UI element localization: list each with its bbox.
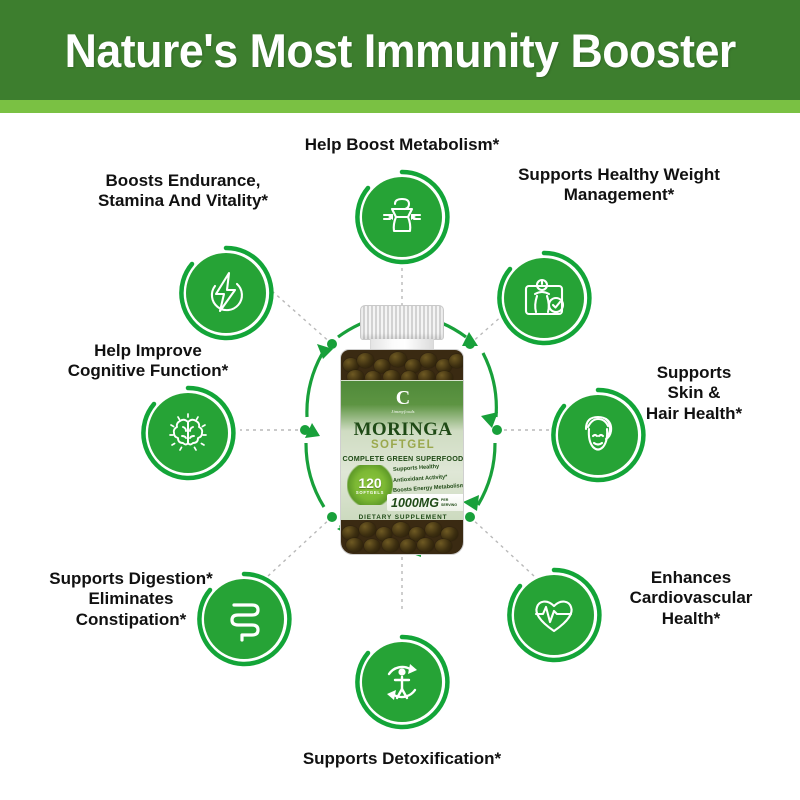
benefit-icon-weight[interactable] [496, 250, 592, 346]
page-title: Nature's Most Immunity Booster [64, 23, 735, 78]
softgel-count-unit: SOFTGELS [356, 490, 384, 495]
badge-disc [186, 253, 266, 333]
logo-letter: C [396, 388, 410, 408]
header-accent-stripe [0, 100, 800, 113]
badge-disc [362, 177, 442, 257]
badge-disc [504, 258, 584, 338]
benefit-label-cognitive: Help Improve Cognitive Function* [18, 341, 278, 382]
benefit-label-cardio: Enhances Cardiovascular Health* [596, 568, 786, 629]
benefit-label-weight: Supports Healthy Weight Management* [474, 165, 764, 206]
lightning-bolt-icon [200, 267, 252, 319]
softgel-count: 120 [358, 476, 381, 490]
product-bottle: C Jimmyfoods MORINGA SOFTGEL COMPLETE GR… [340, 305, 464, 555]
bottle-label: C Jimmyfoods MORINGA SOFTGEL COMPLETE GR… [341, 380, 464, 528]
benefit-label-skin-hair: Supports Skin & Hair Health* [604, 363, 784, 424]
per-serving-label: PER SERVING [441, 498, 464, 506]
person-recycle-arrows-icon [376, 656, 428, 708]
brand-logo: C Jimmyfoods [341, 388, 464, 414]
logo-brand-script: Jimmyfoods [391, 409, 415, 414]
benefit-label-metabolism: Help Boost Metabolism* [252, 135, 552, 155]
benefit-icon-detox[interactable] [354, 634, 450, 730]
benefit-label-digestion: Supports Digestion* Eliminates Constipat… [6, 569, 256, 630]
benefit-icon-cognitive[interactable] [140, 385, 236, 481]
badge-disc [362, 642, 442, 722]
benefit-icon-cardio[interactable] [506, 567, 602, 663]
benefit-label-endurance: Boosts Endurance, Stamina And Vitality* [38, 171, 328, 212]
infographic-stage: Help Boost Metabolism* Supports Healthy … [0, 113, 800, 800]
brain-icon [162, 407, 214, 459]
header-banner: Nature's Most Immunity Booster [0, 0, 800, 100]
softgel-capsules-bottom [341, 520, 464, 554]
heart-pulse-icon [528, 589, 580, 641]
badge-disc [514, 575, 594, 655]
benefit-label-detox: Supports Detoxification* [252, 749, 552, 769]
strength-banner: 1000MG PER SERVING [387, 494, 464, 511]
bottle-body: C Jimmyfoods MORINGA SOFTGEL COMPLETE GR… [340, 349, 464, 555]
bottle-cap [360, 305, 444, 340]
product-form: SOFTGEL [341, 439, 464, 451]
product-claim-3: Boosts Energy Metabolism* [393, 483, 464, 494]
benefit-icon-endurance[interactable] [178, 245, 274, 341]
product-claim-2: Antioxidant Activity* [393, 474, 448, 484]
benefit-icon-metabolism[interactable] [354, 169, 450, 265]
strength-value: 1000MG [391, 496, 439, 510]
product-claim-1: Supports Healthy [393, 464, 440, 473]
product-tagline: COMPLETE GREEN SUPERFOOD [341, 454, 464, 463]
product-name: MORINGA [341, 419, 464, 441]
badge-disc [148, 393, 228, 473]
person-on-scale-check-icon [518, 272, 570, 324]
waist-slimming-icon [376, 191, 428, 243]
